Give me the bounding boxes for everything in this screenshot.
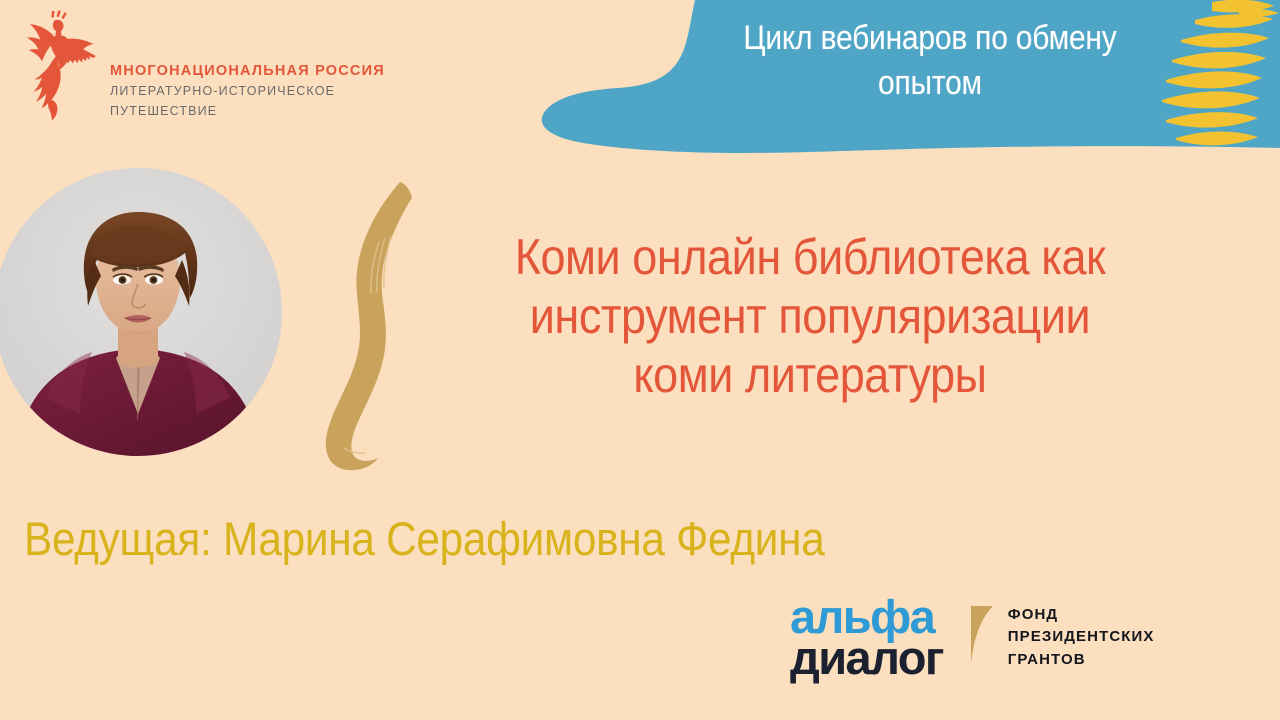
banner-text: Цикл вебинаров по обмену опытом <box>692 16 1167 106</box>
webinar-title-slide: МНОГОНАЦИОНАЛЬНАЯ РОССИЯ ЛИТЕРАТУРНО-ИСТ… <box>0 0 1280 720</box>
fund-line-1: ФОНД <box>1008 604 1155 627</box>
portrait-photo <box>0 168 282 456</box>
fund-line-3: ГРАНТОВ <box>1008 649 1155 672</box>
flag-icon <box>969 606 995 666</box>
presidential-grants-fund-logo: ФОНД ПРЕЗИДЕНТСКИХ ГРАНТОВ <box>969 604 1155 672</box>
alfa-dialog-logo-line-2: диалог <box>790 637 943 678</box>
presenter-portrait <box>0 168 282 456</box>
banner-text-line-1: Цикл вебинаров по обмену <box>692 16 1167 61</box>
presenter-name: Ведущая: Марина Серафимовна Федина <box>24 513 933 565</box>
webinar-series-banner: Цикл вебинаров по обмену опытом <box>540 0 1280 175</box>
presidential-grants-fund-text: ФОНД ПРЕЗИДЕНТСКИХ ГРАНТОВ <box>1008 604 1155 672</box>
page-title: Коми онлайн библиотека как инструмент по… <box>398 228 1222 405</box>
organisation-logo-text: МНОГОНАЦИОНАЛЬНАЯ РОССИЯ ЛИТЕРАТУРНО-ИСТ… <box>110 16 385 122</box>
title-line-3: коми литературы <box>439 346 1181 405</box>
organisation-logo: МНОГОНАЦИОНАЛЬНАЯ РОССИЯ ЛИТЕРАТУРНО-ИСТ… <box>16 8 385 130</box>
fund-line-2: ПРЕЗИДЕНТСКИХ <box>1008 626 1155 649</box>
banner-text-line-2: опытом <box>692 61 1167 106</box>
title-line-2: инструмент популяризации <box>439 287 1181 346</box>
organisation-subtitle-1: ЛИТЕРАТУРНО-ИСТОРИЧЕСКОЕ <box>110 82 385 102</box>
title-line-1: Коми онлайн библиотека как <box>439 228 1181 287</box>
firebird-icon <box>16 8 104 130</box>
sponsor-logos: альфа диалог ФОНД ПРЕЗИДЕНТСКИХ ГРАНТОВ <box>790 596 1155 679</box>
organisation-name: МНОГОНАЦИОНАЛЬНАЯ РОССИЯ <box>110 60 385 82</box>
alfa-dialog-logo: альфа диалог <box>790 596 943 679</box>
organisation-subtitle-2: ПУТЕШЕСТВИЕ <box>110 102 385 122</box>
